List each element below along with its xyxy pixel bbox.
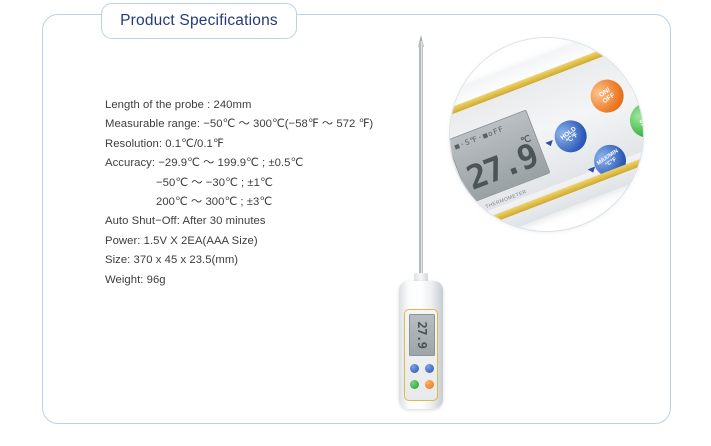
handle-button-on-off[interactable] — [425, 380, 434, 389]
handle-button-max-min[interactable] — [425, 364, 434, 373]
spec-line-auto-shut-off: Auto Shut−Off: After 30 minutes — [105, 212, 425, 231]
handle-front-panel: 27.9 — [404, 309, 438, 401]
thermometer-handle: 27.9 — [399, 281, 443, 409]
page-title: Product Specifications — [120, 12, 278, 30]
hold-button[interactable]: HOLD℃℉ — [548, 114, 593, 159]
spec-line-probe-length: Length of the probe : 240mm — [105, 96, 425, 115]
spec-line-power: Power: 1.5V X 2EA(AAA Size) — [105, 232, 425, 251]
panel-title-tab: Product Specifications — [101, 3, 297, 39]
magnified-lcd-display: ■·S℉·■oFF 27.9 ℃ — [450, 110, 550, 204]
magnified-detail-circle: ■·S℉·■oFF 27.9 ℃ ON/OFF SET HOLD℃℉ MAX/M… — [450, 38, 643, 231]
handle-button-hold[interactable] — [410, 364, 419, 373]
lcd-temperature-reading: 27.9 — [462, 138, 541, 194]
specification-list: Length of the probe : 240mm Measurable r… — [105, 96, 425, 290]
spec-line-weight: Weight: 96g — [105, 271, 425, 290]
handle-lcd-reading: 27.9 — [415, 322, 429, 349]
set-button[interactable]: SET — [624, 96, 643, 144]
triangle-marker-icon — [545, 140, 554, 148]
spec-line-accuracy-primary: Accuracy: −29.9℃ ～ 199.9℃ ; ±0.5℃ — [105, 154, 425, 173]
spec-line-size: Size: 370 x 45 x 23.5(mm) — [105, 251, 425, 270]
magnified-device-body: ■·S℉·■oFF 27.9 ℃ ON/OFF SET HOLD℃℉ MAX/M… — [450, 38, 643, 231]
handle-lcd-display: 27.9 — [409, 314, 435, 356]
spec-line-accuracy-low-range: −50℃ ～ −30℃ ; ±1℃ — [105, 174, 425, 193]
spec-line-accuracy-high-range: 200℃ ～ 300℃ ; ±3℃ — [105, 193, 425, 212]
handle-button-set[interactable] — [410, 380, 419, 389]
spec-line-resolution: Resolution: 0.1℃/0.1℉ — [105, 135, 425, 154]
on-off-button[interactable]: ON/OFF — [584, 73, 630, 119]
spec-line-measurable-range: Measurable range: −50℃ ～ 300℃(−58℉ ～ 572… — [105, 115, 425, 134]
